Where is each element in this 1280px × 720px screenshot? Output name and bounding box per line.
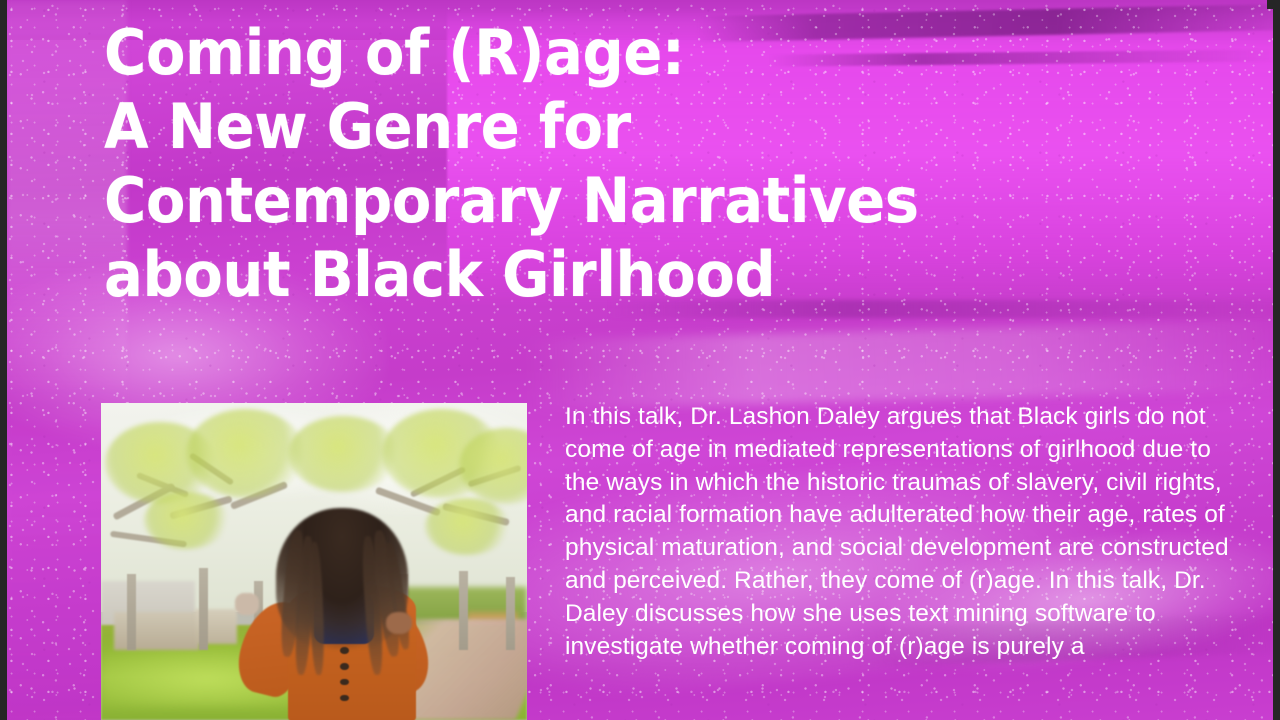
talk-description: In this talk, Dr. Lashon Daley argues th… (565, 401, 1237, 663)
title-line-4: about Black Girlhood (104, 238, 1034, 312)
title-line-1: Coming of (R)age: (104, 16, 1034, 90)
background-light-sweep (526, 320, 1273, 410)
photo-tree-trunk (459, 571, 468, 650)
photo-tree-trunk (506, 577, 515, 650)
photo-cardigan-button (340, 647, 348, 654)
photo-tree-trunk (199, 568, 208, 650)
photo-subject-hand (235, 593, 258, 615)
photo-cardigan-button (340, 695, 348, 702)
title-line-3: Contemporary Narratives (104, 164, 1034, 238)
title-line-2: A New Genre for (104, 90, 1034, 164)
photo-tree-foliage (144, 492, 229, 549)
slide-title: Coming of (R)age: A New Genre for Contem… (104, 16, 1034, 312)
photo-tree-foliage (425, 498, 510, 555)
photo-subject-hand (386, 612, 412, 634)
frame-edge-right (1273, 0, 1280, 720)
slide-canvas: Coming of (R)age: A New Genre for Contem… (0, 0, 1280, 720)
frame-edge-left (0, 0, 7, 720)
speaker-photo (101, 403, 527, 720)
photo-cardigan-button (340, 679, 348, 686)
photo-tree-trunk (127, 574, 136, 650)
frame-edge-top-right (1267, 0, 1273, 9)
photo-cardigan-button (340, 663, 348, 670)
